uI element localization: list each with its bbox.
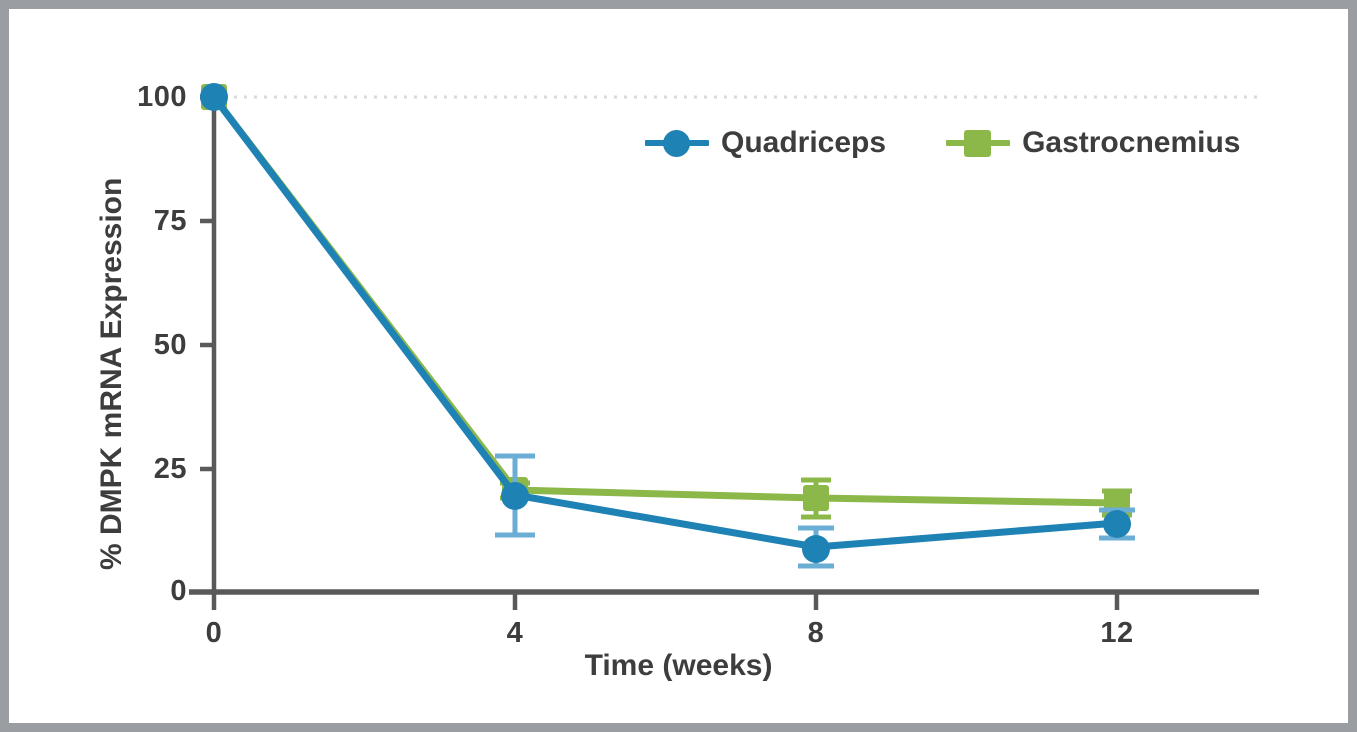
series-line-quadriceps [214,97,1117,547]
figure-frame: 100 75 50 25 0 0 4 8 12 % DMPK mRNA Expr… [0,0,1357,732]
chart-legend: Quadriceps Gastrocnemius [645,126,1240,160]
x-tick-label: 12 [1077,617,1157,650]
legend-marker-square-icon [946,128,1010,158]
x-tick-label: 0 [174,617,254,650]
x-tick-label: 4 [475,617,555,650]
figure-canvas: 100 75 50 25 0 0 4 8 12 % DMPK mRNA Expr… [9,9,1348,723]
legend-entry-gastrocnemius[interactable]: Gastrocnemius [946,126,1240,160]
y-tick-label: 100 [109,81,187,114]
y-tick-label: 0 [109,575,187,608]
legend-label: Gastrocnemius [1022,126,1240,160]
legend-marker-circle-icon [645,128,709,158]
y-axis-title: % DMPK mRNA Expression [95,178,129,570]
legend-entry-quadriceps[interactable]: Quadriceps [645,126,886,160]
line-chart-plot [9,9,1348,723]
x-axis-title: Time (weeks) [9,649,1348,683]
legend-label: Quadriceps [721,126,886,160]
x-tick-label: 8 [776,617,856,650]
